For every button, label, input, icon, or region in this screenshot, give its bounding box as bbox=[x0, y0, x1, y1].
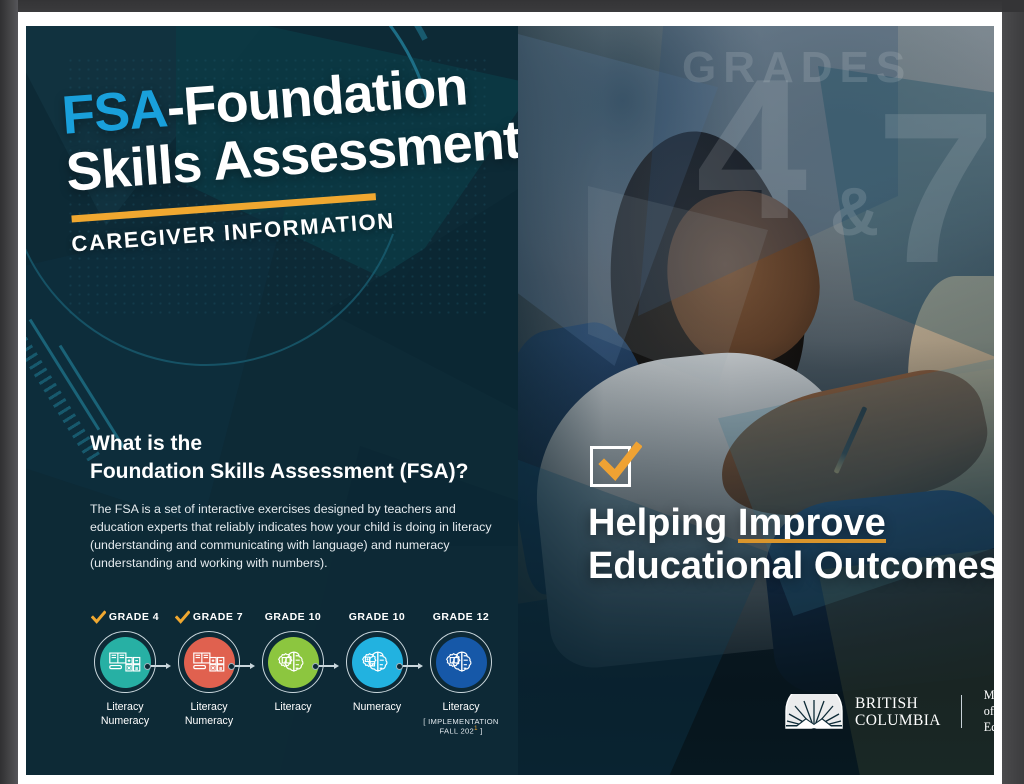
timeline-node-ring bbox=[430, 631, 492, 693]
timeline-node-header: GRADE 10 bbox=[250, 608, 336, 626]
timeline-node-caption: LiteracyNumeracy bbox=[82, 701, 168, 728]
hero-tagline: Helping Improve Educational Outcomes bbox=[588, 502, 988, 587]
timeline-subject: Literacy bbox=[166, 701, 252, 715]
bc-wordmark-line-1: BRITISH bbox=[855, 695, 941, 712]
timeline-node-header: GRADE 7 bbox=[166, 608, 252, 626]
timeline-subject: Numeracy bbox=[334, 701, 420, 715]
hero-line-1: Helping Improve bbox=[588, 502, 988, 545]
grade-timeline: GRADE 4 LiteracyNumeracy GRADE 7 Literac… bbox=[82, 608, 522, 758]
brain-gear-math-icon bbox=[360, 647, 394, 677]
timeline-node-header: GRADE 12 bbox=[418, 608, 504, 626]
checkmark-icon bbox=[175, 610, 190, 625]
timeline-subject: Literacy bbox=[82, 701, 168, 715]
window-chrome-left bbox=[0, 0, 18, 784]
bc-wordmark-line-2: COLUMBIA bbox=[855, 712, 941, 729]
window-chrome-right bbox=[1002, 0, 1024, 784]
checkmark-box-icon bbox=[590, 446, 631, 487]
timeline-grade-label: GRADE 10 bbox=[265, 611, 322, 623]
section-body-text: The FSA is a set of interactive exercise… bbox=[90, 500, 512, 573]
connector-dot bbox=[396, 663, 403, 670]
timeline-node-caption: LiteracyNumeracy bbox=[166, 701, 252, 728]
hero-line-2: Educational Outcomes bbox=[588, 545, 988, 588]
connector-line bbox=[319, 665, 334, 666]
hero-photo-panel: GRADES 4 & 7 Helping Improve Educational… bbox=[518, 26, 994, 775]
timeline-grade-label: GRADE 10 bbox=[349, 611, 406, 623]
timeline-node-caption: Literacy bbox=[250, 701, 336, 715]
section-heading-line-1: What is the bbox=[90, 430, 520, 458]
grade-checked-icon bbox=[175, 610, 190, 625]
timeline-subject: Numeracy bbox=[166, 715, 252, 729]
timeline-node-disc bbox=[184, 637, 235, 688]
logo-divider bbox=[961, 695, 962, 728]
timeline-node-caption: Literacy bbox=[418, 701, 504, 715]
timeline-subject: Numeracy bbox=[82, 715, 168, 729]
timeline-subject: Literacy bbox=[418, 701, 504, 715]
connector-dot bbox=[228, 663, 235, 670]
connector-dot bbox=[144, 663, 151, 670]
timeline-node-caption: Numeracy bbox=[334, 701, 420, 715]
timeline-note: [ IMPLEMENTATION FALL 2021 ] bbox=[418, 717, 504, 737]
grade-checked-icon bbox=[91, 610, 106, 625]
book-and-math-icon bbox=[192, 647, 226, 677]
checkmark-icon bbox=[596, 440, 642, 486]
ministry-line-1: Ministry of bbox=[984, 688, 994, 720]
timeline-grade-label: GRADE 4 bbox=[109, 611, 159, 623]
connector-line bbox=[151, 665, 166, 666]
hero-helping: Helping bbox=[588, 502, 738, 544]
timeline-node-disc bbox=[352, 637, 403, 688]
timeline-grade-label: GRADE 7 bbox=[193, 611, 243, 623]
timeline-node-grade-12-literacy[interactable]: GRADE 12 Literacy[ IMPLEMENTATION FALL 2… bbox=[418, 608, 504, 737]
book-and-math-icon bbox=[108, 647, 142, 677]
ministry-line-2: Education bbox=[984, 720, 994, 736]
timeline-node-header: GRADE 4 bbox=[82, 608, 168, 626]
brain-gear-book-icon bbox=[276, 647, 310, 677]
timeline-grade-label: GRADE 12 bbox=[433, 611, 490, 623]
section-heading-line-2: Foundation Skills Assessment (FSA)? bbox=[90, 458, 520, 486]
screenshot-viewport: FSA-Foundation Skills Assessment CAREGIV… bbox=[0, 0, 1024, 784]
timeline-node-disc bbox=[268, 637, 319, 688]
footnote-marker: 1 bbox=[474, 726, 478, 732]
bc-wordmark: BRITISH COLUMBIA bbox=[855, 695, 941, 729]
fsa-caregiver-poster: FSA-Foundation Skills Assessment CAREGIV… bbox=[26, 26, 994, 775]
checkmark-icon bbox=[91, 610, 106, 625]
connector-dot bbox=[312, 663, 319, 670]
hero-improve: Improve bbox=[738, 502, 886, 545]
brain-gear-book-icon bbox=[444, 647, 478, 677]
connector-line bbox=[403, 665, 418, 666]
ministry-label: Ministry of Education bbox=[984, 688, 994, 736]
timeline-node-disc bbox=[100, 637, 151, 688]
bc-gov-logo: BRITISH COLUMBIA Ministry of Education bbox=[784, 688, 994, 736]
timeline-node-header: GRADE 10 bbox=[334, 608, 420, 626]
connector-line bbox=[235, 665, 250, 666]
bc-sunburst-icon bbox=[784, 694, 844, 730]
timeline-subject: Literacy bbox=[250, 701, 336, 715]
what-is-fsa-section: What is the Foundation Skills Assessment… bbox=[90, 430, 520, 573]
window-chrome-corner bbox=[1002, 0, 1024, 12]
timeline-node-disc bbox=[436, 637, 487, 688]
